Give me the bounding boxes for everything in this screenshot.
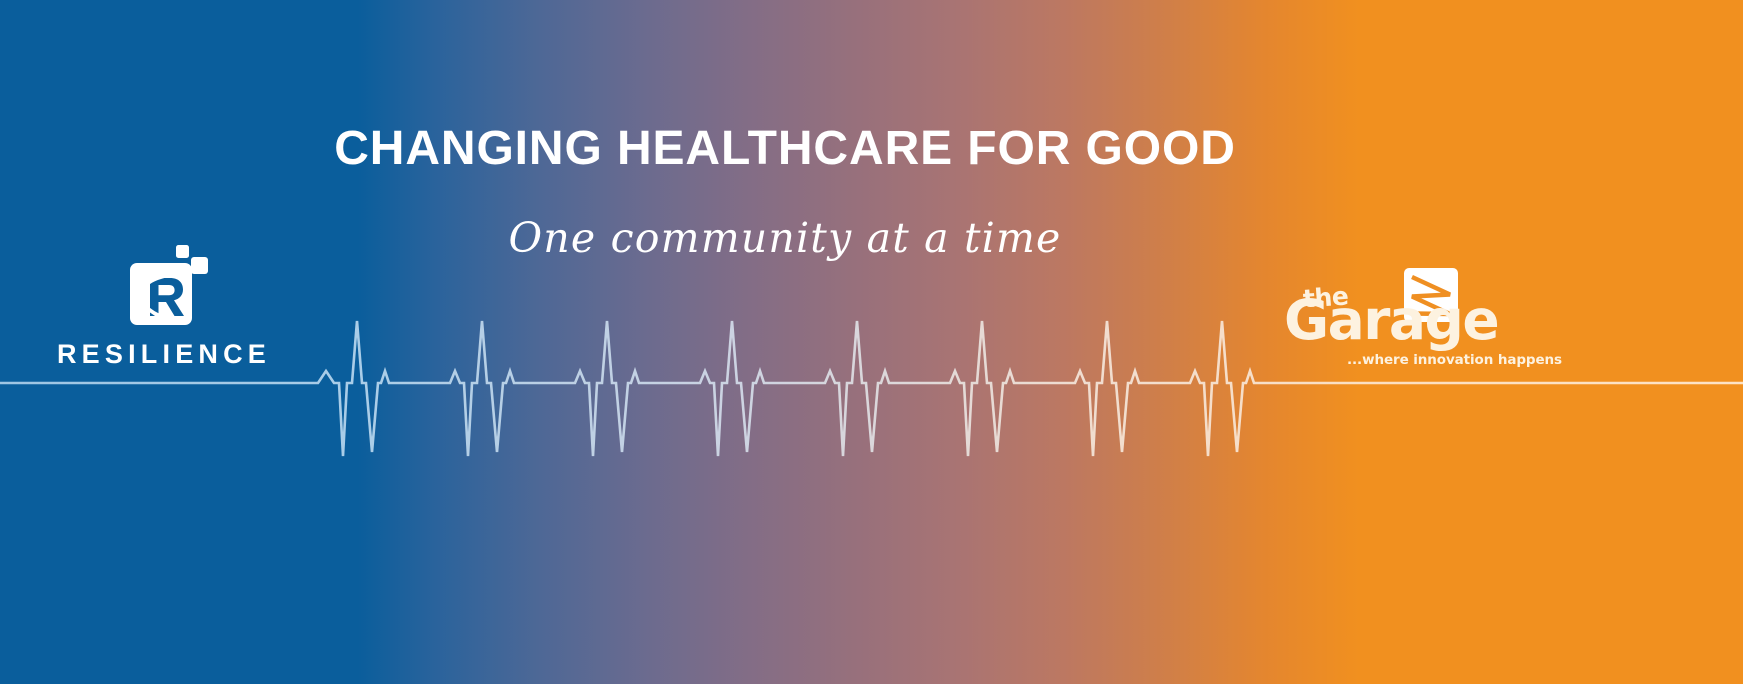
resilience-r-swoosh-icon bbox=[122, 245, 208, 331]
garage-name-label: Garage bbox=[1284, 293, 1498, 348]
resilience-logo: RESILIENCE bbox=[54, 245, 274, 375]
page-title: CHANGING HEALTHCARE FOR GOOD bbox=[0, 124, 1570, 174]
resilience-wordmark: RESILIENCE bbox=[54, 339, 274, 370]
banner-root: CHANGING HEALTHCARE FOR GOOD One communi… bbox=[0, 0, 1743, 684]
garage-slogan: ...where innovation happens bbox=[1347, 352, 1562, 368]
garage-logo: the Garage ...where innovation happens bbox=[1285, 268, 1515, 378]
